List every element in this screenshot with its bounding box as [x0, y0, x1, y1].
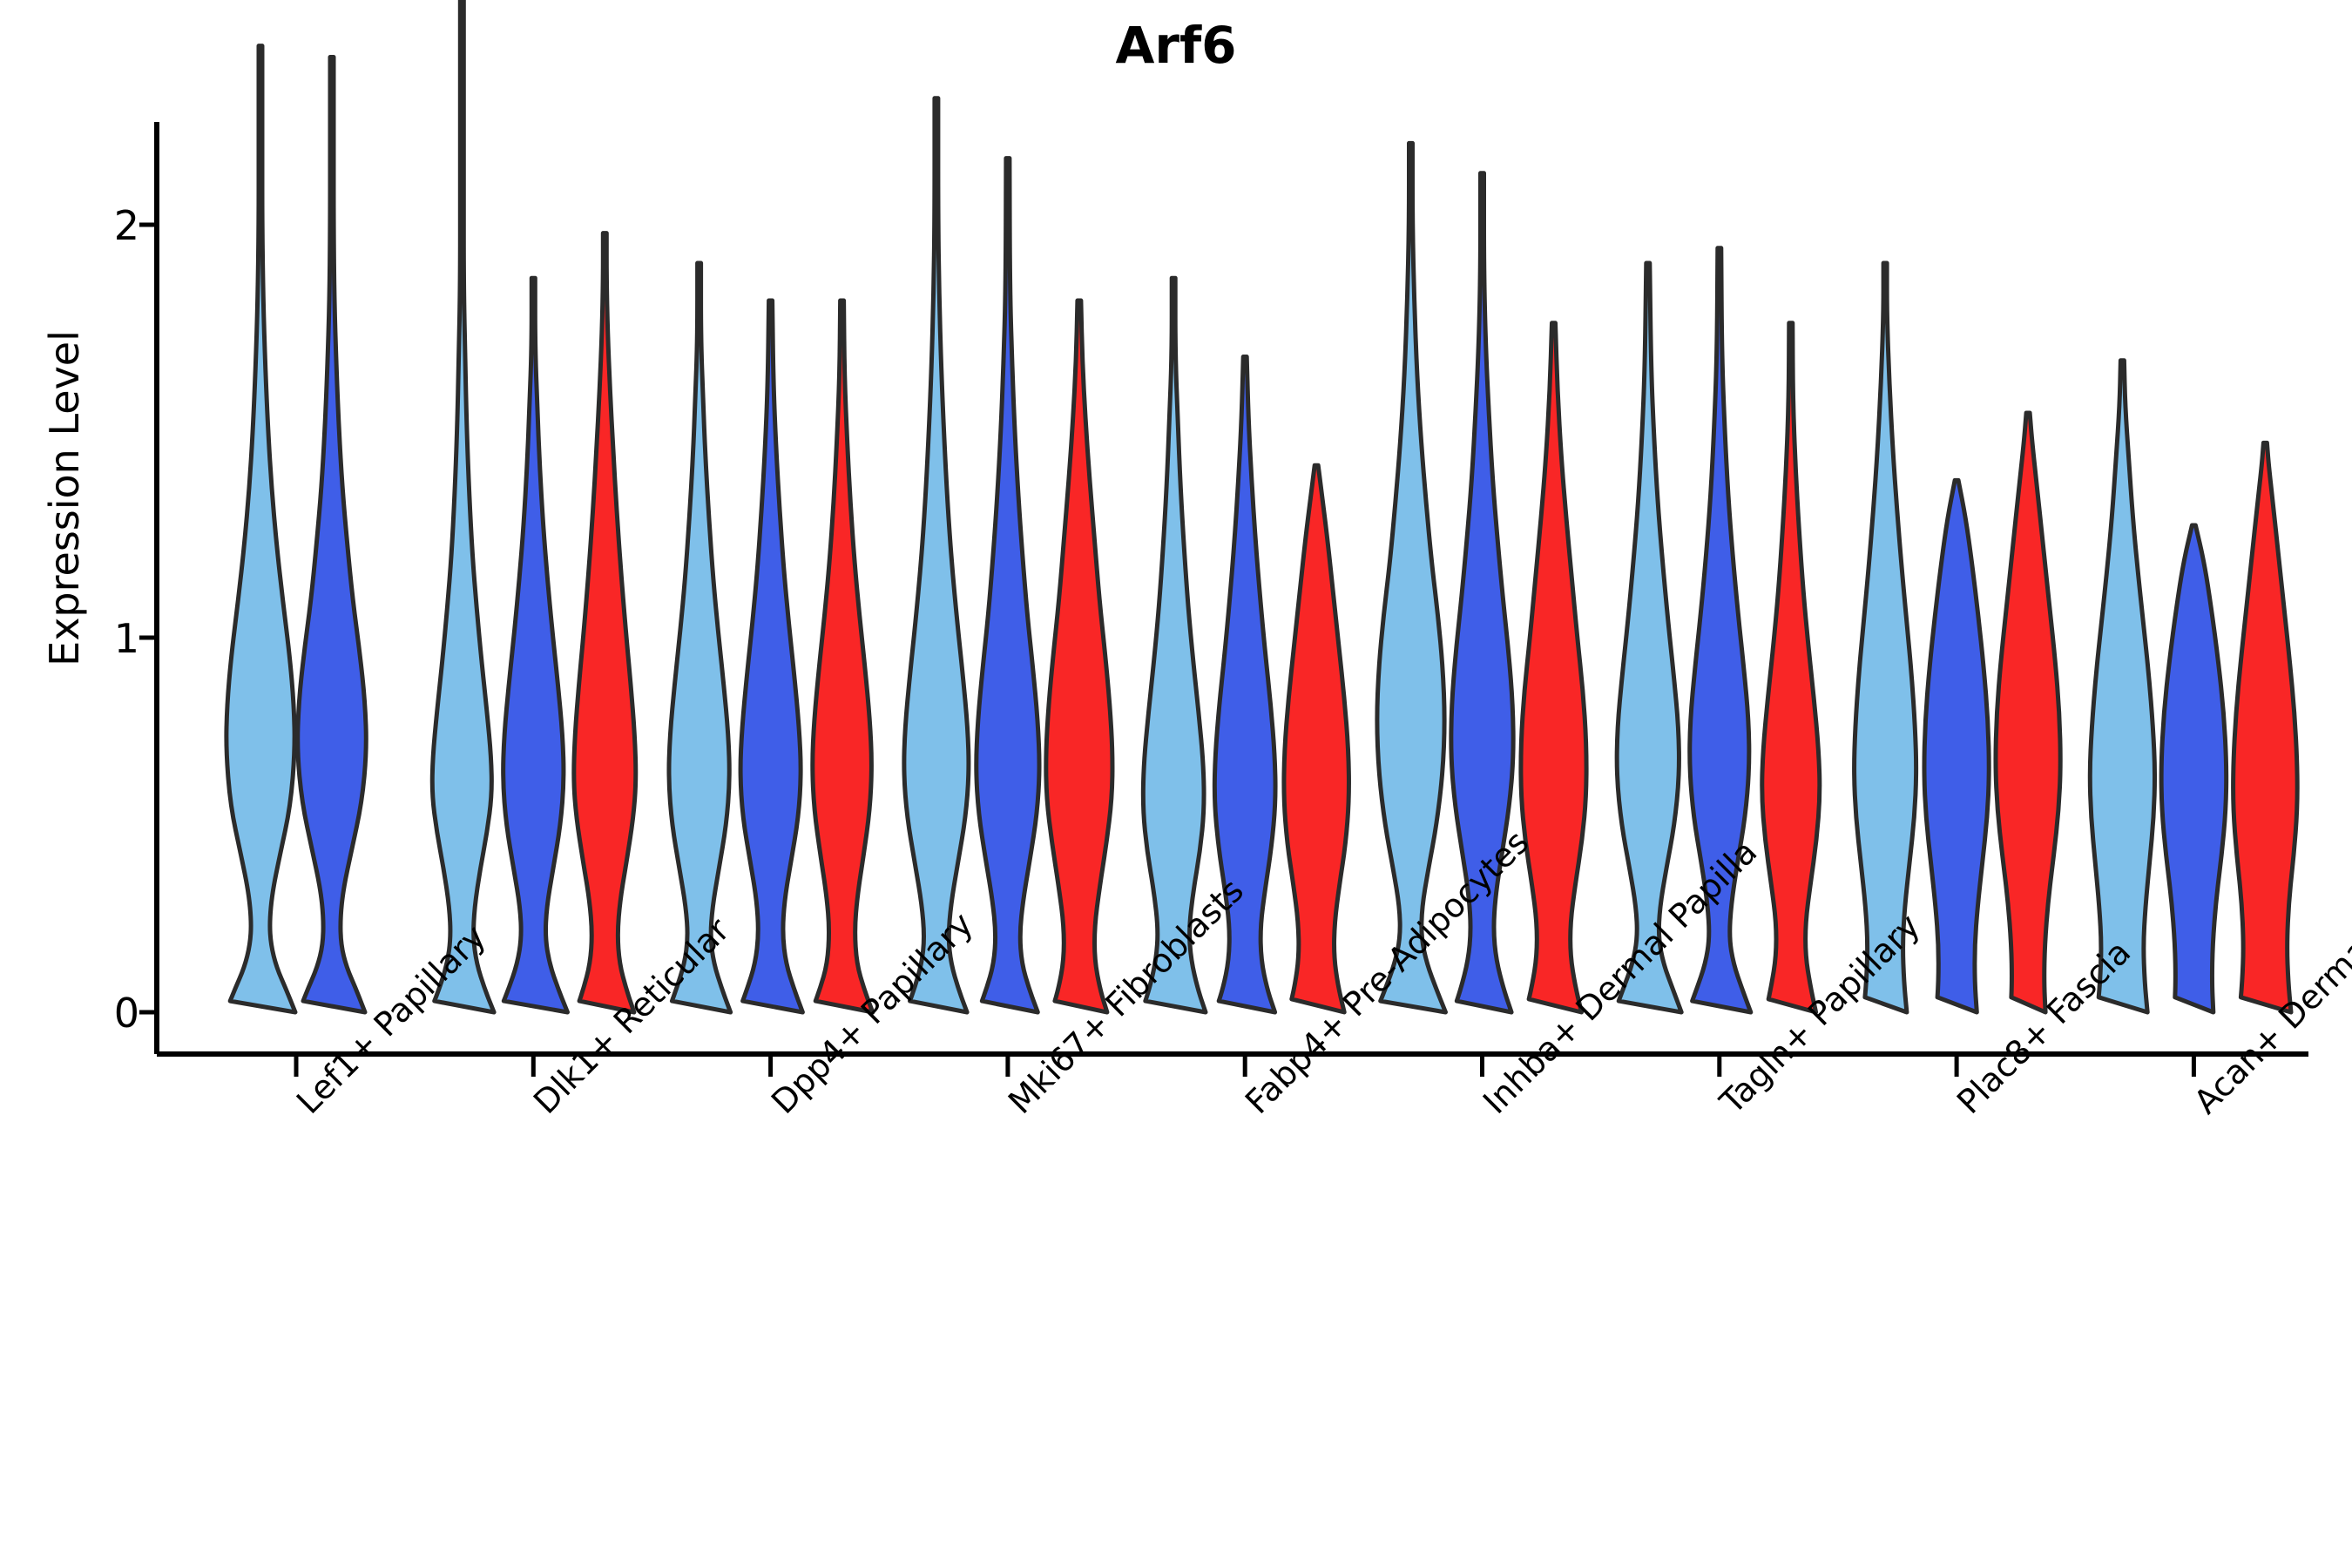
violin-7-group-c[interactable]: [1762, 323, 1820, 1012]
violin-3-group-b[interactable]: [740, 301, 802, 1012]
violin-6-group-a[interactable]: [1377, 143, 1446, 1012]
violin-8-group-a[interactable]: [1855, 263, 1916, 1012]
violin-4-group-c[interactable]: [1046, 301, 1112, 1012]
violins-layer: [226, 0, 2297, 1012]
violin-9-group-b[interactable]: [2161, 525, 2227, 1012]
violin-plot-figure: Arf6 Expression Level 2 1 0 Lef1+ Papill…: [0, 0, 2352, 1568]
violin-8-group-c[interactable]: [1996, 413, 2060, 1012]
violin-5-group-c[interactable]: [1284, 465, 1349, 1012]
violin-1-group-a[interactable]: [226, 46, 295, 1012]
violin-9-group-a[interactable]: [2090, 361, 2154, 1012]
violin-4-group-a[interactable]: [904, 98, 969, 1012]
violin-3-group-a[interactable]: [669, 263, 731, 1012]
violin-4-group-b[interactable]: [977, 159, 1039, 1012]
violin-2-group-b[interactable]: [504, 278, 568, 1012]
violin-9-group-c[interactable]: [2234, 443, 2298, 1012]
plot-canvas: [0, 0, 2352, 1568]
violin-6-group-c[interactable]: [1521, 323, 1586, 1012]
violin-2-group-a[interactable]: [432, 0, 494, 1012]
violin-3-group-c[interactable]: [813, 301, 873, 1012]
violin-8-group-b[interactable]: [1924, 480, 1989, 1012]
violin-2-group-c[interactable]: [574, 233, 636, 1012]
violin-1-group-b[interactable]: [298, 57, 367, 1013]
